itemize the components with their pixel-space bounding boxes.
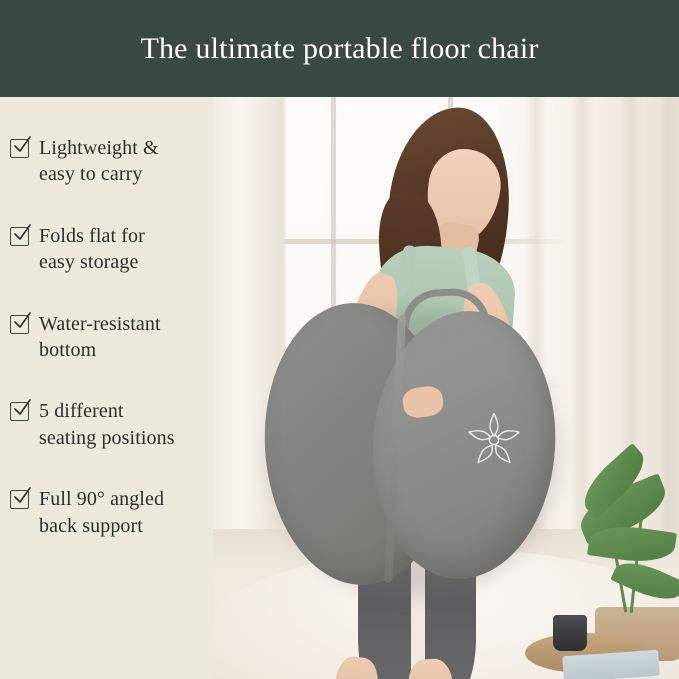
feature-label: Full 90° angled back support — [39, 486, 164, 539]
feature-label: Water-resistant bottom — [39, 311, 161, 364]
header-banner: The ultimate portable floor chair — [0, 0, 679, 97]
feature-line-1: Full 90° angled — [39, 488, 164, 510]
feature-list: Lightweight & easy to carry Folds flat f… — [0, 135, 213, 539]
feature-label: 5 different seating positions — [39, 398, 175, 451]
page-title: The ultimate portable floor chair — [140, 32, 538, 65]
checkmark-icon — [10, 139, 29, 158]
lotus-flower-logo — [461, 407, 527, 473]
list-item: Full 90° angled back support — [0, 486, 213, 539]
feature-line-2: bottom — [39, 339, 96, 361]
checkmark-icon — [10, 315, 29, 334]
floor-chair-product — [265, 301, 555, 593]
list-item: Folds flat for easy storage — [0, 223, 213, 276]
feature-line-2: seating positions — [39, 427, 175, 449]
feature-line-1: 5 different — [39, 400, 124, 422]
feature-line-1: Lightweight & — [39, 137, 159, 159]
checkmark-icon — [10, 490, 29, 509]
feature-line-2: back support — [39, 515, 143, 537]
checkmark-icon — [10, 227, 29, 246]
product-infographic: The ultimate portable floor chair Lightw… — [0, 0, 679, 679]
feature-label: Lightweight & easy to carry — [39, 135, 159, 188]
product-photo — [213, 97, 679, 679]
feature-line-2: easy storage — [39, 251, 139, 273]
feature-line-1: Folds flat for — [39, 225, 145, 247]
feature-line-2: easy to carry — [39, 163, 142, 185]
list-item: Water-resistant bottom — [0, 311, 213, 364]
list-item: 5 different seating positions — [0, 398, 213, 451]
feature-label: Folds flat for easy storage — [39, 223, 145, 276]
feature-line-1: Water-resistant — [39, 313, 161, 335]
list-item: Lightweight & easy to carry — [0, 135, 213, 188]
checkmark-icon — [10, 402, 29, 421]
cup — [553, 615, 587, 651]
feature-panel: Lightweight & easy to carry Folds flat f… — [0, 97, 213, 679]
